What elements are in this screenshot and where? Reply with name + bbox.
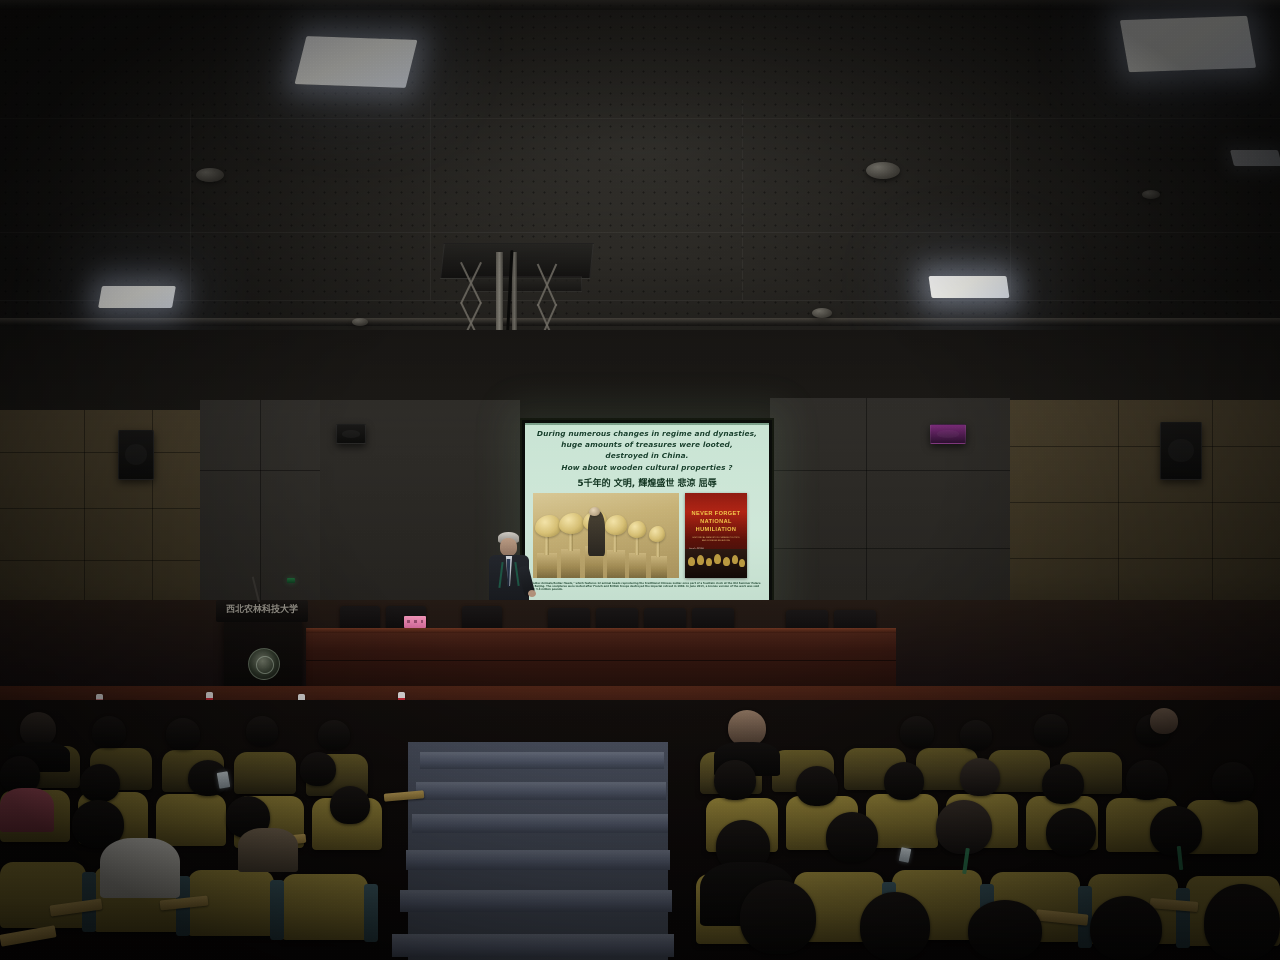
ceiling-speaker-icon [1142,190,1160,199]
ceiling-speaker-icon [196,168,224,182]
projector-ceiling-plate [440,243,594,279]
ceiling-seam-vertical [190,110,191,300]
ceiling-light-panel [928,276,1009,298]
ceiling-seam-vertical [742,100,743,300]
wall-seam [770,548,1010,549]
book-title-line-1: NEVER FORGET [687,511,744,518]
audience-head [1150,708,1178,734]
wall-seam [1010,558,1280,559]
seat-side-panel [270,880,284,940]
name-card [404,616,426,628]
wall-speaker-icon [118,430,154,480]
aisle-step [416,782,666,800]
book-cover-crowd [685,549,747,578]
aisle-step [400,890,672,912]
auditorium-photo: During numerous changes in regime and dy… [0,0,1280,960]
slide-line-4: How about wooden cultural properties ? [525,464,769,472]
podium-university-name: 西北农林科技大学 [216,602,308,615]
aisle-step [392,934,674,957]
audience-head [900,716,934,748]
seat-side-panel [364,884,378,942]
audience-head [246,716,278,746]
audience-head [80,764,120,802]
slide-cjk-line: 5千年的 文明, 輝煌盛世 悲涼 屈辱 [525,476,769,489]
slide-image-zodiac-heads [533,493,679,578]
wall-seam [1010,446,1280,447]
wall-seam [0,508,200,509]
aisle-step [412,814,668,833]
audience-head [884,762,924,800]
projector-ceiling-plate [470,276,582,292]
audience-head [92,716,126,748]
book-subtitle: HISTORICAL MEMORY IN CHINESE POLITICS AN… [692,537,739,543]
audience-head [936,800,992,854]
slide-line-3: destroyed in China. [525,452,769,460]
audience-head [714,760,756,800]
slide-top-rule [525,423,769,425]
audience-seat [234,752,296,794]
book-title-line-3: HUMILIATION [687,527,744,534]
presenter-head [500,538,517,556]
audience-head [166,718,200,750]
exit-sign-icon [287,578,295,583]
projection-screen: During numerous changes in regime and dy… [520,418,774,618]
wall-seam [0,560,200,561]
audience-seat [156,794,226,846]
book-title-line-2: NATIONAL [687,519,744,526]
stage-dais-lip [306,628,896,633]
audience-head [1126,760,1168,800]
ceiling-beam [0,318,1280,326]
aisle-step [406,850,670,870]
presentation-slide: During numerous changes in regime and dy… [525,423,769,613]
audience-head [1090,896,1162,960]
audience-head [968,900,1042,960]
stage-dais-seam [306,660,896,661]
audience-head [300,752,336,786]
wall-speaker-icon [930,424,966,444]
audience-head [796,766,838,806]
audience-seat [0,862,86,928]
audience-head [740,880,816,954]
ceiling-light-panel [295,36,418,88]
slide-image-book-cover: NEVER FORGET NATIONAL HUMILIATION HISTOR… [685,493,747,578]
wall-seam [200,470,320,471]
wall-speaker-icon [336,424,366,444]
audience-head [20,712,56,746]
stage-dais [306,628,896,687]
wall-speaker-icon [1160,422,1202,480]
ceiling-seam-vertical [1010,110,1011,300]
ceiling-seam [0,232,1280,233]
ceiling-seam-vertical [430,100,431,300]
audience-head [1046,808,1096,856]
wall-seam [770,470,1010,471]
ceiling-beam [0,0,1280,10]
ceiling-speaker-icon [866,162,900,179]
podium [224,618,302,690]
wall-seam [0,452,200,453]
audience-head [728,710,766,746]
audience-head [318,720,350,750]
seat-side-panel [1176,888,1190,948]
ceiling-light-panel [1120,16,1256,72]
ceiling-speaker-icon [812,308,832,318]
presenter-hand [528,590,536,597]
audience-head [1204,884,1280,960]
audience-shoulders [100,838,180,898]
audience-head [1212,762,1254,802]
ceiling-speaker-icon [352,318,368,326]
audience-head [1042,764,1084,804]
audience-head [330,786,370,824]
audience-shoulders [238,828,298,872]
audience-head [826,812,878,862]
ceiling-light-panel [1230,150,1280,166]
ceiling-seam [0,300,1280,301]
audience-seat [282,874,368,940]
slide-caption: Zodiac Animals/Zodiac Heads," which feat… [531,583,763,592]
audience-head [860,892,930,960]
slide-line-2: huge amounts of treasures were looted, [525,441,769,449]
aisle-step [420,752,664,769]
audience-head [960,758,1000,796]
audience-head [960,720,992,750]
audience-head [1034,714,1068,746]
audience-shoulders [0,788,54,832]
slide-line-1: During numerous changes in regime and dy… [525,430,769,438]
university-seal-icon [248,648,280,680]
ceiling-seam [0,118,1280,119]
ceiling-light-panel [98,286,176,308]
wall-seam [1010,502,1280,503]
